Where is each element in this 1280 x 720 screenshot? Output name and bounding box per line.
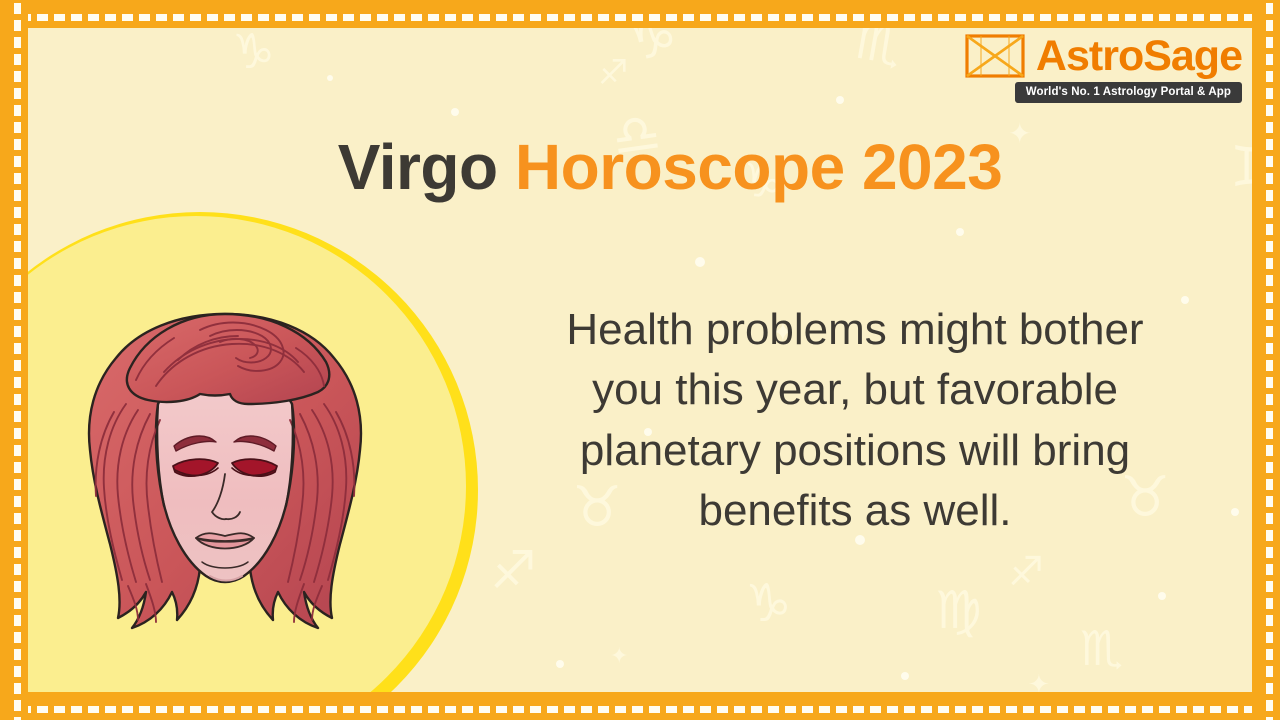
watermark-capricorn-icon: ♑ — [745, 578, 792, 630]
watermark-virgo-icon: ♍ — [935, 585, 982, 637]
summary-line: Health problems might bother — [490, 300, 1220, 360]
title-sign: Virgo — [338, 131, 498, 203]
watermark-capricorn-icon: ♑ — [620, 28, 683, 71]
summary-line: benefits as well. — [490, 481, 1220, 541]
watermark-sagittarius-icon: ♐ — [598, 56, 628, 90]
watermark-dot — [556, 660, 564, 668]
watermark-dot — [1231, 508, 1239, 516]
logo-row: AstroSage — [964, 33, 1242, 79]
watermark-dot — [1158, 592, 1166, 600]
logo-wordmark: AstroSage — [1036, 35, 1242, 78]
watermark-sagittarius-icon: ♐ — [1008, 552, 1044, 592]
watermark-dot — [695, 257, 705, 267]
border-right — [1252, 0, 1280, 720]
border-left — [0, 0, 28, 720]
summary-line: planetary positions will bring — [490, 421, 1220, 481]
watermark-sparkle-icon: ✦ — [1028, 672, 1050, 692]
virgo-maiden-illustration — [60, 300, 390, 660]
kundali-chart-icon — [964, 33, 1026, 79]
border-top — [0, 0, 1280, 28]
page-title: Virgo Horoscope 2023 — [0, 134, 1280, 201]
astrosage-logo[interactable]: AstroSage World's No. 1 Astrology Portal… — [964, 33, 1242, 103]
watermark-scorpio-icon: ♏ — [1080, 625, 1123, 673]
logo-tagline: World's No. 1 Astrology Portal & App — [1015, 82, 1242, 103]
watermark-capricorn-icon: ♑ — [232, 28, 275, 76]
watermark-scorpio-icon: ♏ — [851, 28, 906, 74]
watermark-dot — [956, 228, 964, 236]
watermark-sagittarius-icon: ♐ — [490, 545, 537, 597]
watermark-sparkle-icon: ✦ — [610, 646, 628, 668]
horoscope-banner: ♑♏♐♎♑♊♑♉♐♑♉♍♏♐✦✦✦✦ — [0, 0, 1280, 720]
horoscope-summary-text: Health problems might botheryou this yea… — [490, 300, 1220, 541]
border-bottom — [0, 692, 1280, 720]
watermark-dot — [327, 75, 333, 81]
watermark-dot — [901, 672, 909, 680]
watermark-dot — [451, 108, 459, 116]
summary-line: you this year, but favorable — [490, 360, 1220, 420]
title-rest: Horoscope 2023 — [515, 131, 1002, 203]
watermark-dot — [836, 96, 844, 104]
